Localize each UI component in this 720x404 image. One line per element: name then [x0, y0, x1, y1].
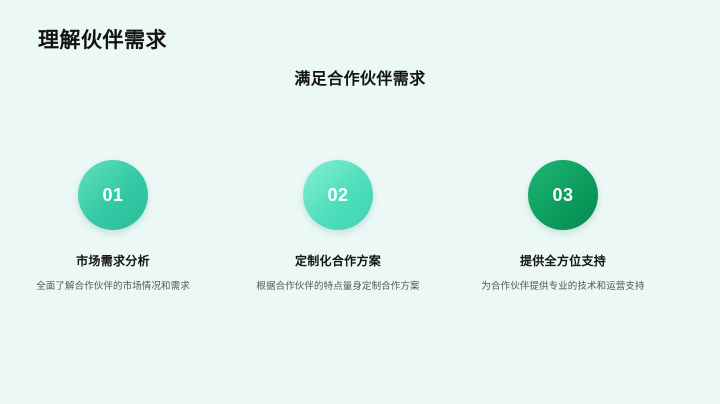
feature-item-2: 02 定制化合作方案 根据合作伙伴的特点量身定制合作方案 — [226, 160, 450, 294]
feature-item-1: 01 市场需求分析 全面了解合作伙伴的市场情况和需求 — [1, 160, 225, 294]
feature-heading-1: 市场需求分析 — [76, 254, 150, 270]
page-title: 理解伙伴需求 — [38, 28, 167, 53]
step-number-label: 02 — [327, 186, 348, 204]
step-badge-03: 03 — [528, 160, 598, 230]
step-badge-02: 02 — [303, 160, 373, 230]
slide-canvas: 理解伙伴需求 满足合作伙伴需求 01 市场需求分析 全面了解合作伙伴的市场情况和… — [0, 0, 720, 404]
feature-heading-3: 提供全方位支持 — [520, 254, 606, 270]
step-number-label: 03 — [552, 186, 573, 204]
step-number-label: 01 — [102, 186, 123, 204]
slide-subtitle: 满足合作伙伴需求 — [0, 70, 720, 91]
feature-body-2: 根据合作伙伴的特点量身定制合作方案 — [254, 280, 422, 295]
feature-heading-2: 定制化合作方案 — [295, 254, 381, 270]
feature-columns: 01 市场需求分析 全面了解合作伙伴的市场情况和需求 02 定制化合作方案 根据… — [0, 160, 720, 294]
feature-body-1: 全面了解合作伙伴的市场情况和需求 — [29, 280, 197, 295]
feature-body-3: 为合作伙伴提供专业的技术和运营支持 — [479, 280, 647, 295]
feature-item-3: 03 提供全方位支持 为合作伙伴提供专业的技术和运营支持 — [451, 160, 675, 294]
step-badge-01: 01 — [78, 160, 148, 230]
